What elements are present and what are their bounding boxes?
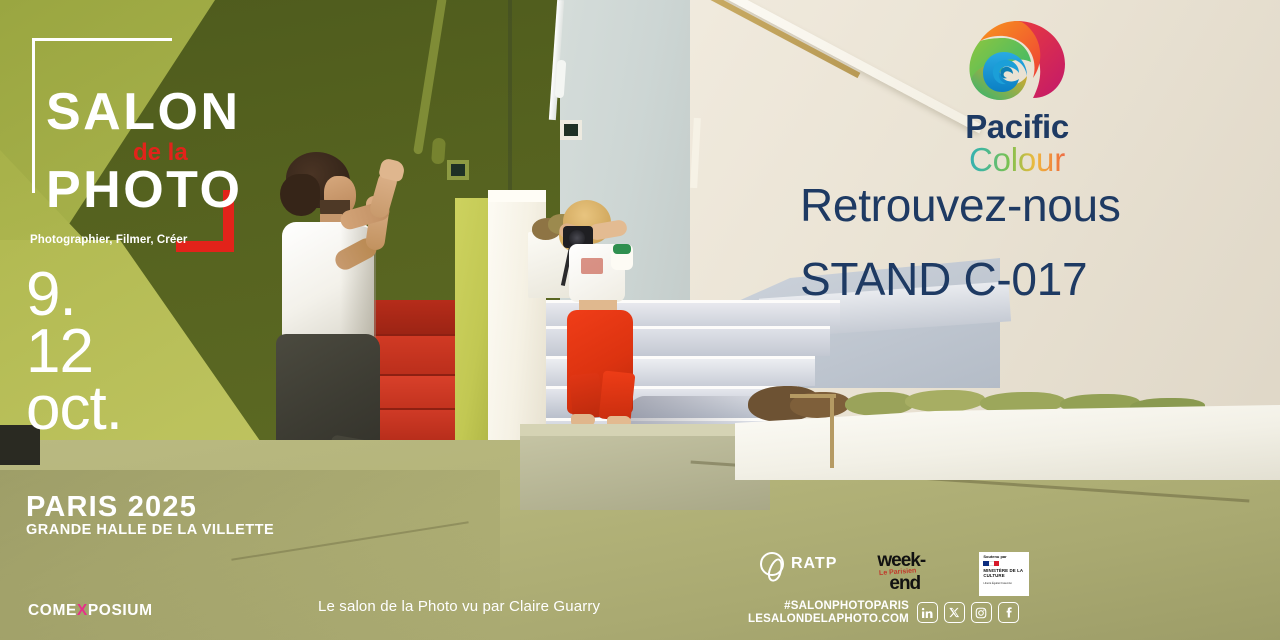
ministry-of-culture-logo: Soutenu par MINISTÈRE DE LA CULTURE Libe…	[979, 552, 1029, 596]
pacific-shell-icon	[963, 18, 1071, 108]
logo-photo-text: PHOTO	[46, 164, 242, 216]
weekend-le-parisien-logo: week- Le Parisien end	[877, 552, 939, 594]
date-month: oct.	[26, 380, 122, 439]
ministry-support-label: Soutenu par	[983, 555, 1025, 559]
event-website[interactable]: LESALONDELAPHOTO.COM	[748, 613, 909, 626]
social-icons	[917, 602, 1019, 623]
pacific-wordmark-line2: Colour	[952, 143, 1082, 178]
stand-headline: Retrouvez-nous STAND C-017	[800, 180, 1260, 305]
promotional-banner: SALON de la PHOTO Photographier, Filmer,…	[0, 0, 1280, 640]
date-day-to: 12	[26, 323, 122, 380]
ratp-label: RATP	[791, 555, 837, 573]
venue-block: PARIS 2025 GRANDE HALLE DE LA VILLETTE	[26, 492, 274, 540]
date-day-from: 9.	[26, 266, 122, 323]
event-dates: 9. 12 oct.	[26, 266, 122, 439]
ratp-mark-icon	[760, 552, 784, 576]
pacific-colour-logo: Pacific Colour	[952, 18, 1082, 178]
ministry-motto: Liberté Égalité Fraternité	[983, 582, 1025, 585]
comexposium-logo: COMEXPOSIUM	[28, 602, 153, 620]
event-hashtag: #SALONPHOTOPARIS	[748, 600, 909, 613]
logo-tagline: Photographier, Filmer, Créer	[30, 234, 187, 246]
partner-logos: RATP week- Le Parisien end Soutenu par M…	[760, 552, 1029, 596]
comexposium-part1: COME	[28, 602, 77, 619]
facebook-icon[interactable]	[998, 602, 1019, 623]
photo-credit-caption: Le salon de la Photo vu par Claire Guarr…	[318, 598, 600, 615]
graphic-overlay: SALON de la PHOTO Photographier, Filmer,…	[0, 0, 1280, 640]
weekend-bottom-text: end	[889, 575, 939, 592]
x-twitter-icon[interactable]	[944, 602, 965, 623]
pacific-wordmark-line1: Pacific	[952, 110, 1082, 143]
comexposium-x: X	[77, 602, 88, 619]
venue-city: PARIS 2025	[26, 492, 274, 522]
french-flag-icon	[983, 561, 999, 566]
ratp-logo: RATP	[760, 552, 837, 576]
social-bar: #SALONPHOTOPARIS LESALONDELAPHOTO.COM	[748, 600, 1019, 626]
linkedin-icon[interactable]	[917, 602, 938, 623]
comexposium-part2: POSIUM	[88, 602, 153, 619]
ministry-title: MINISTÈRE DE LA CULTURE	[983, 568, 1025, 578]
headline-line-2: STAND C-017	[800, 254, 1260, 306]
logo-salon-text: SALON	[46, 86, 241, 138]
hashtag-block: #SALONPHOTOPARIS LESALONDELAPHOTO.COM	[748, 600, 909, 626]
headline-line-1: Retrouvez-nous	[800, 180, 1260, 232]
venue-name: GRANDE HALLE DE LA VILLETTE	[26, 522, 274, 539]
instagram-icon[interactable]	[971, 602, 992, 623]
